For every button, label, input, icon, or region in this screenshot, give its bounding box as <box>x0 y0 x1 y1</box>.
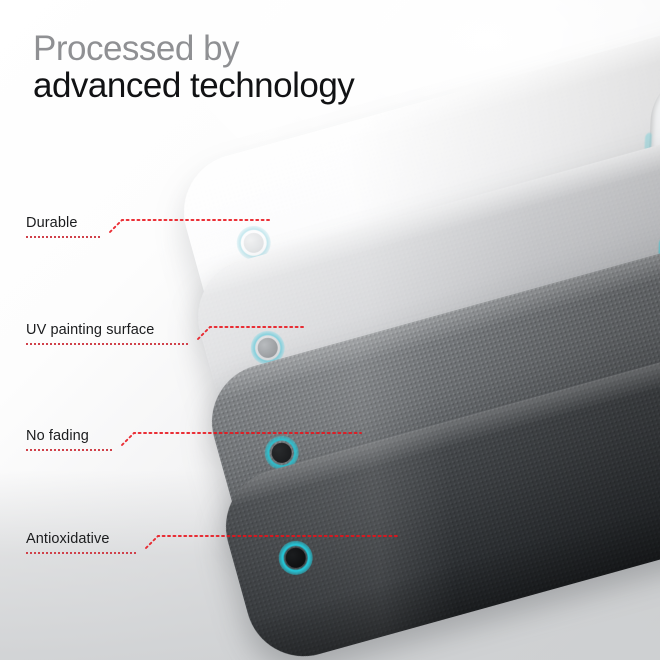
callout-label: No fading <box>26 428 89 444</box>
callout-label: Antioxidative <box>26 531 110 547</box>
callout-leader-line <box>26 345 446 385</box>
callout-leader-line <box>26 451 446 491</box>
title-line-1: Processed by <box>33 30 354 67</box>
callout-leader-line <box>26 554 446 594</box>
page-title: Processed by advanced technology <box>33 30 354 104</box>
title-line-2: advanced technology <box>33 67 354 104</box>
callout-label: UV painting surface <box>26 322 154 338</box>
callout-label: Durable <box>26 215 77 231</box>
callout-leader-line <box>26 238 446 278</box>
product-image-canvas: Processed by advanced technology Durable… <box>0 0 660 660</box>
